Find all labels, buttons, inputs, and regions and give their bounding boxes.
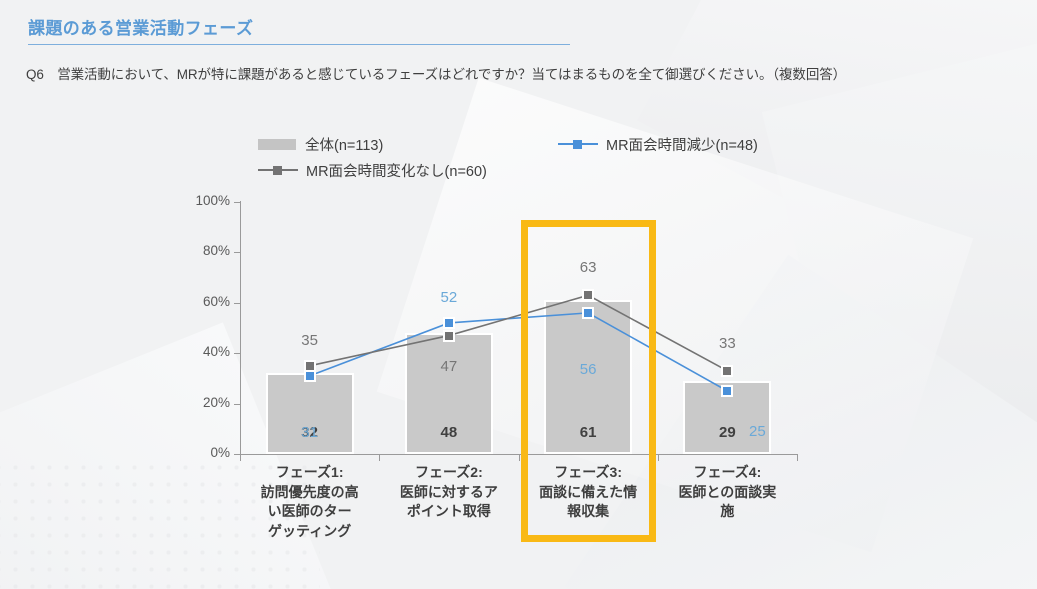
legend-item-total: 全体(n=113): [258, 134, 558, 155]
legend-item-decrease: MR面会時間減少(n=48): [558, 134, 758, 155]
page-title: 課題のある営業活動フェーズ: [28, 14, 253, 39]
legend-label-total: 全体(n=113): [305, 134, 383, 155]
legend-row-2: MR面会時間変化なし(n=60): [258, 157, 818, 183]
bg-dot-pattern: [0, 459, 320, 589]
background-decoration: [0, 0, 1037, 589]
legend-row-1: 全体(n=113) MR面会時間減少(n=48): [258, 131, 818, 157]
highlight-box-phase3: [521, 220, 656, 542]
legend-item-nochange: MR面会時間変化なし(n=60): [258, 160, 487, 181]
legend-bar-swatch-icon: [258, 139, 296, 150]
chart-legend: 全体(n=113) MR面会時間減少(n=48) MR面会時間変化なし(n=60…: [258, 131, 818, 183]
title-underline: [28, 44, 570, 45]
legend-line-swatch-blue-icon: [558, 138, 598, 150]
question-text: Q6 営業活動において、MRが特に課題があると感じているフェーズはどれですか？当…: [26, 63, 846, 83]
legend-label-decrease: MR面会時間減少(n=48): [606, 134, 758, 155]
legend-line-swatch-gray-icon: [258, 164, 298, 176]
legend-label-nochange: MR面会時間変化なし(n=60): [306, 160, 487, 181]
